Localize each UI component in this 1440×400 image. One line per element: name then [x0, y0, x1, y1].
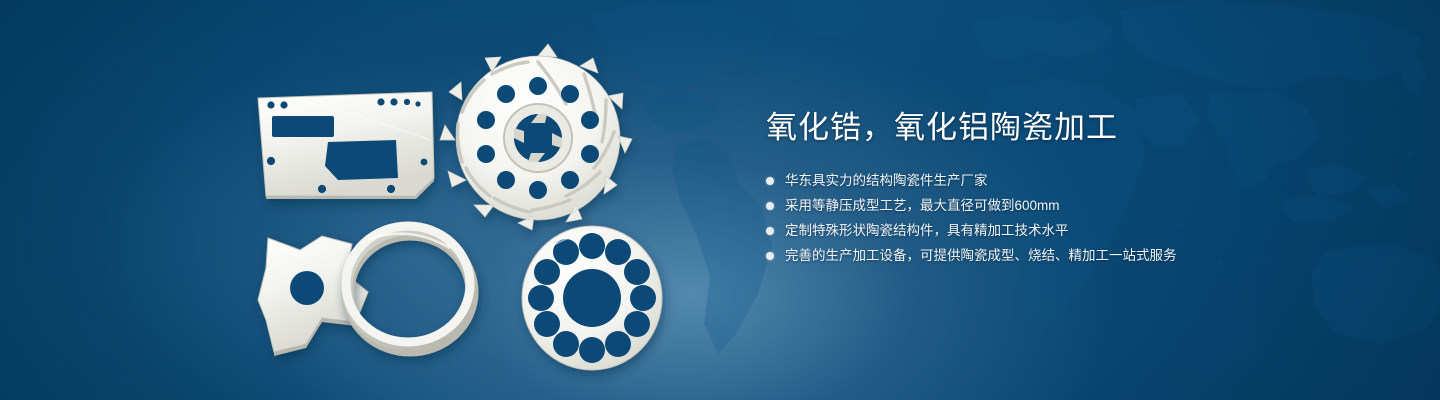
list-item: 完善的生产加工设备，可提供陶瓷成型、烧结、精加工一站式服务 [766, 245, 1386, 266]
product-images [0, 0, 740, 400]
bullet-label: 华东具实力的结构陶瓷件生产厂家 [785, 170, 988, 191]
bullet-dot-icon [766, 252, 774, 260]
list-item: 定制特殊形状陶瓷结构件，具有精加工技术水平 [766, 220, 1386, 241]
bullet-dot-icon [766, 227, 774, 235]
ceramic-impeller-disc [440, 44, 632, 230]
bullet-label: 完善的生产加工设备，可提供陶瓷成型、烧结、精加工一站式服务 [785, 245, 1177, 266]
list-item: 采用等静压成型工艺，最大直径可做到600mm [766, 195, 1386, 216]
ceramic-perforated-disc [522, 226, 662, 370]
hero-banner: 氧化锆，氧化铝陶瓷加工 华东具实力的结构陶瓷件生产厂家 采用等静压成型工艺，最大… [0, 0, 1440, 400]
bullet-dot-icon [766, 177, 774, 185]
bullet-dot-icon [766, 202, 774, 210]
ceramic-mounting-plate [258, 92, 434, 199]
list-item: 华东具实力的结构陶瓷件生产厂家 [766, 170, 1386, 191]
bullet-label: 采用等静压成型工艺，最大直径可做到600mm [785, 195, 1060, 216]
bullet-label: 定制特殊形状陶瓷结构件，具有精加工技术水平 [785, 220, 1069, 241]
feature-bullet-list: 华东具实力的结构陶瓷件生产厂家 采用等静压成型工艺，最大直径可做到600mm 定… [766, 170, 1386, 266]
page-title: 氧化锆，氧化铝陶瓷加工 [766, 108, 1386, 148]
ceramic-ring [346, 226, 472, 350]
banner-text-panel: 氧化锆，氧化铝陶瓷加工 华东具实力的结构陶瓷件生产厂家 采用等静压成型工艺，最大… [766, 108, 1386, 270]
